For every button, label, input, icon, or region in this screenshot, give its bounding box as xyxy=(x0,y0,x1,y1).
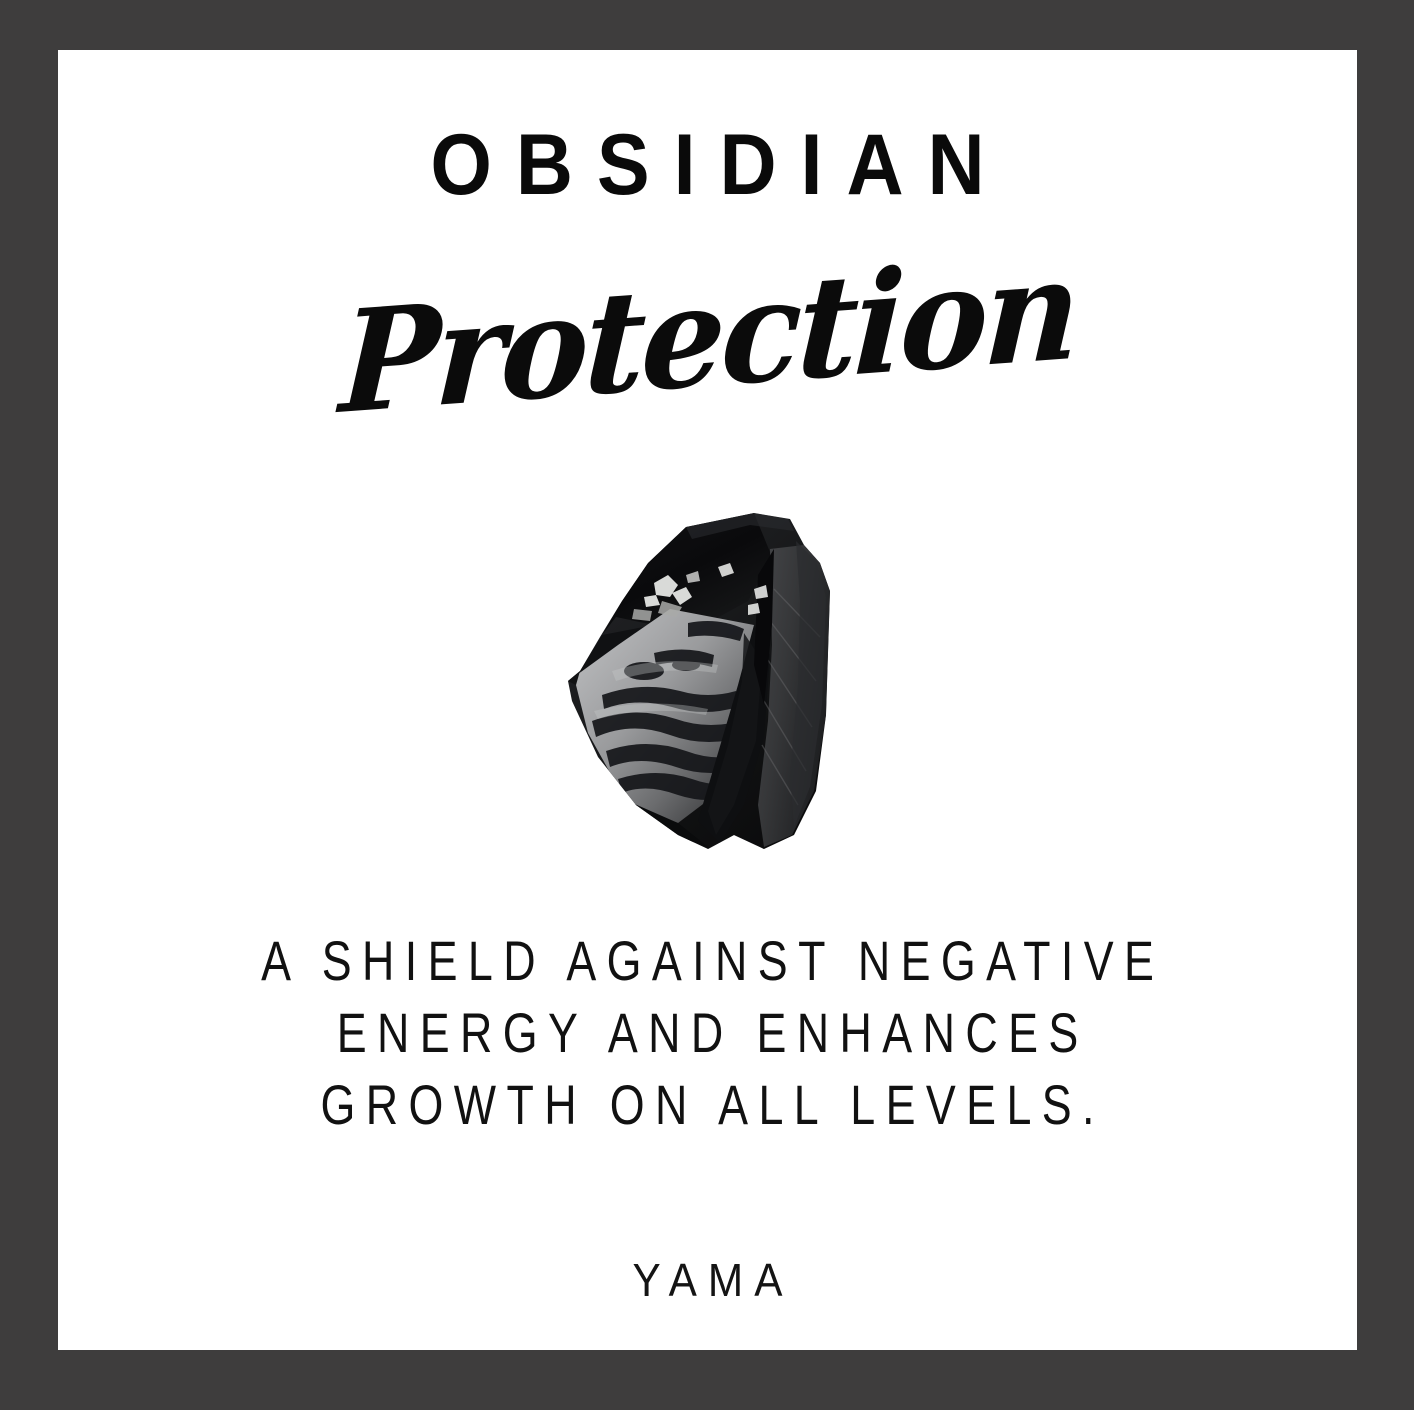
brand-signature: YAMA xyxy=(110,1255,1305,1305)
body-line-1: A SHIELD AGAINST NEGATIVE xyxy=(188,925,1227,997)
stone-image-container xyxy=(58,505,1357,875)
subtitle-script: Protection xyxy=(336,225,1080,450)
body-copy: A SHIELD AGAINST NEGATIVE ENERGY AND ENH… xyxy=(58,925,1357,1141)
page-title: OBSIDIAN xyxy=(110,122,1305,208)
body-line-2: ENERGY AND ENHANCES xyxy=(188,997,1227,1069)
white-card: OBSIDIAN Protection xyxy=(58,50,1357,1350)
body-line-3: GROWTH ON ALL LEVELS. xyxy=(188,1069,1227,1141)
obsidian-stone-icon xyxy=(558,505,858,865)
poster-canvas: OBSIDIAN Protection xyxy=(0,0,1414,1410)
subtitle-container: Protection xyxy=(58,258,1357,428)
